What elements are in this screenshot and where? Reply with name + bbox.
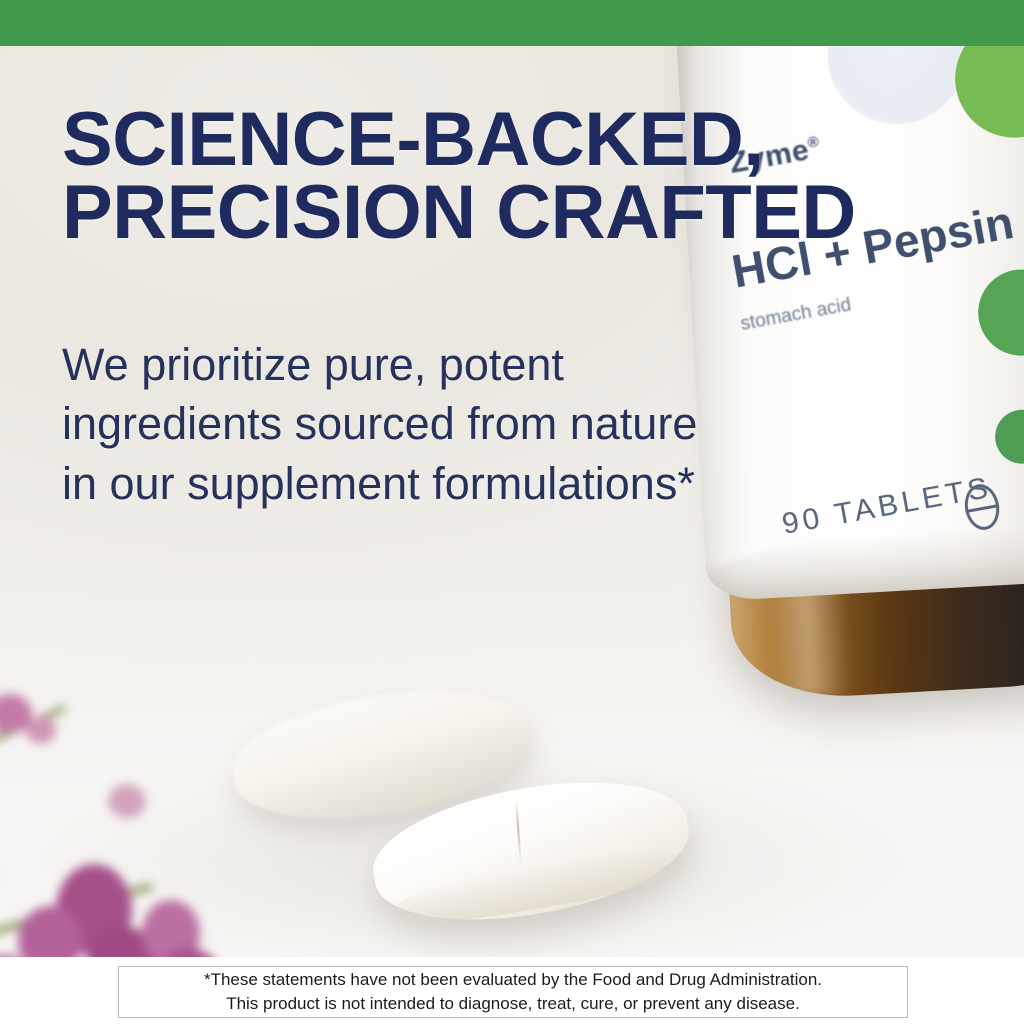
disclaimer-line-1: *These statements have not been evaluate… — [204, 968, 822, 992]
page-title: SCIENCE-BACKED, PRECISION CRAFTED — [62, 104, 962, 250]
flower-petal — [26, 716, 56, 744]
tablet-score-line — [516, 800, 522, 863]
marketing-image-canvas: DESIGNED Zyme® HCl + Pepsin — [0, 0, 1024, 1024]
molecule-node — [976, 267, 1024, 358]
molecule-node — [994, 408, 1024, 465]
subcopy-text: We prioritize pure, potent ingredients s… — [62, 335, 702, 513]
brand-color-bar — [0, 0, 1024, 46]
headline-line-2: PRECISION CRAFTED — [62, 177, 962, 250]
molecule-node — [952, 46, 1024, 141]
fda-disclaimer-box: *These statements have not been evaluate… — [118, 966, 908, 1018]
flower-petal — [108, 784, 146, 818]
disclaimer-line-2: This product is not intended to diagnose… — [226, 992, 800, 1016]
